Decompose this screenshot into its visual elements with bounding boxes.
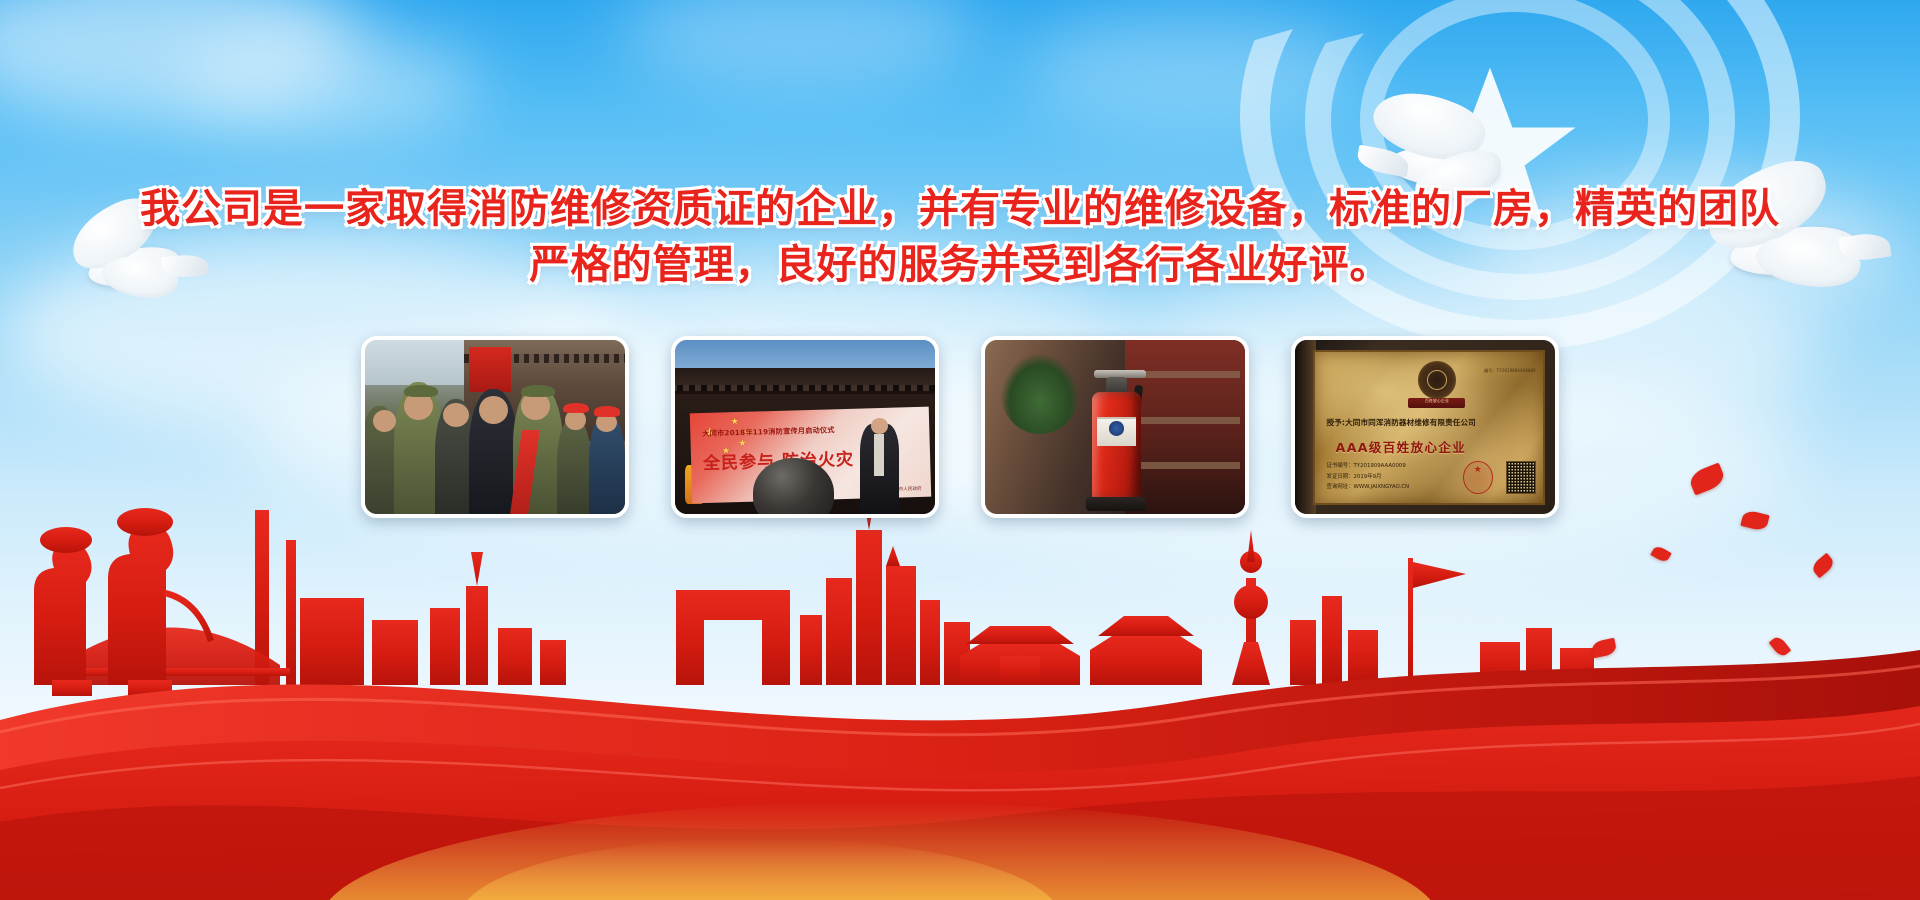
photo-aaa-plaque-image: 百姓放心企业 编号：TY201909AAA0009 授予:大同市同浑消防器材维修… [1295,340,1555,514]
promo-banner: 我公司是一家取得消防维修资质证的企业，并有专业的维修设备，标准的厂房，精英的团队… [0,0,1920,900]
photo-119-event[interactable]: ★ ★ ★ ★ ★ 大同市2018年119消防宣传月启动仪式 全民参与 防治火灾… [671,336,939,518]
plaque-award-recipient: 授予:大同市同浑消防器材维修有限责任公司 [1327,417,1536,428]
city-skyline-silhouette [60,498,1594,685]
cloud-decor [180,30,480,140]
photo-inspection-image [365,340,625,514]
plaque-qr-code [1506,461,1536,494]
photo-fire-extinguisher[interactable] [981,336,1249,518]
red-skyline-artwork [0,470,1920,900]
plaque-code-top: 编号：TY201909AAA0009 [1484,368,1536,374]
photo-inspection[interactable] [361,336,629,518]
cloud-decor [1020,10,1360,130]
photo-aaa-plaque[interactable]: 百姓放心企业 编号：TY201909AAA0009 授予:大同市同浑消防器材维修… [1291,336,1559,518]
cloud-decor [0,0,360,120]
plaque-red-stamp-icon: ★ [1463,461,1493,494]
plaque-meta: 证书编号：TY201909AAA0009 发证日期：2019年9月 查询网址：W… [1327,461,1409,493]
cloud-decor [620,0,980,90]
page-title-line-2: 严格的管理，良好的服务并受到各行各业好评。 [0,232,1920,290]
plaque-cert-no: 证书编号：TY201909AAA0009 [1327,461,1409,472]
photo-gallery: ★ ★ ★ ★ ★ 大同市2018年119消防宣传月启动仪式 全民参与 防治火灾… [0,336,1920,518]
plaque-emblem-icon [1418,361,1457,399]
plaque-award-title: AAA级百姓放心企业 [1336,437,1534,456]
plaque-website: 查询网址：WWW.JAIXNGYAO.CN [1327,482,1409,493]
plaque-issue-date: 发证日期：2019年9月 [1327,472,1409,483]
photo-fire-extinguisher-image [985,340,1245,514]
page-title-line-1: 我公司是一家取得消防维修资质证的企业，并有专业的维修设备，标准的厂房，精英的团队 [0,176,1920,234]
award-plaque: 百姓放心企业 编号：TY201909AAA0009 授予:大同市同浑消防器材维修… [1313,350,1544,505]
photo-119-event-image: ★ ★ ★ ★ ★ 大同市2018年119消防宣传月启动仪式 全民参与 防治火灾… [675,340,935,514]
plaque-seal-caption: 百姓放心企业 [1408,398,1465,409]
